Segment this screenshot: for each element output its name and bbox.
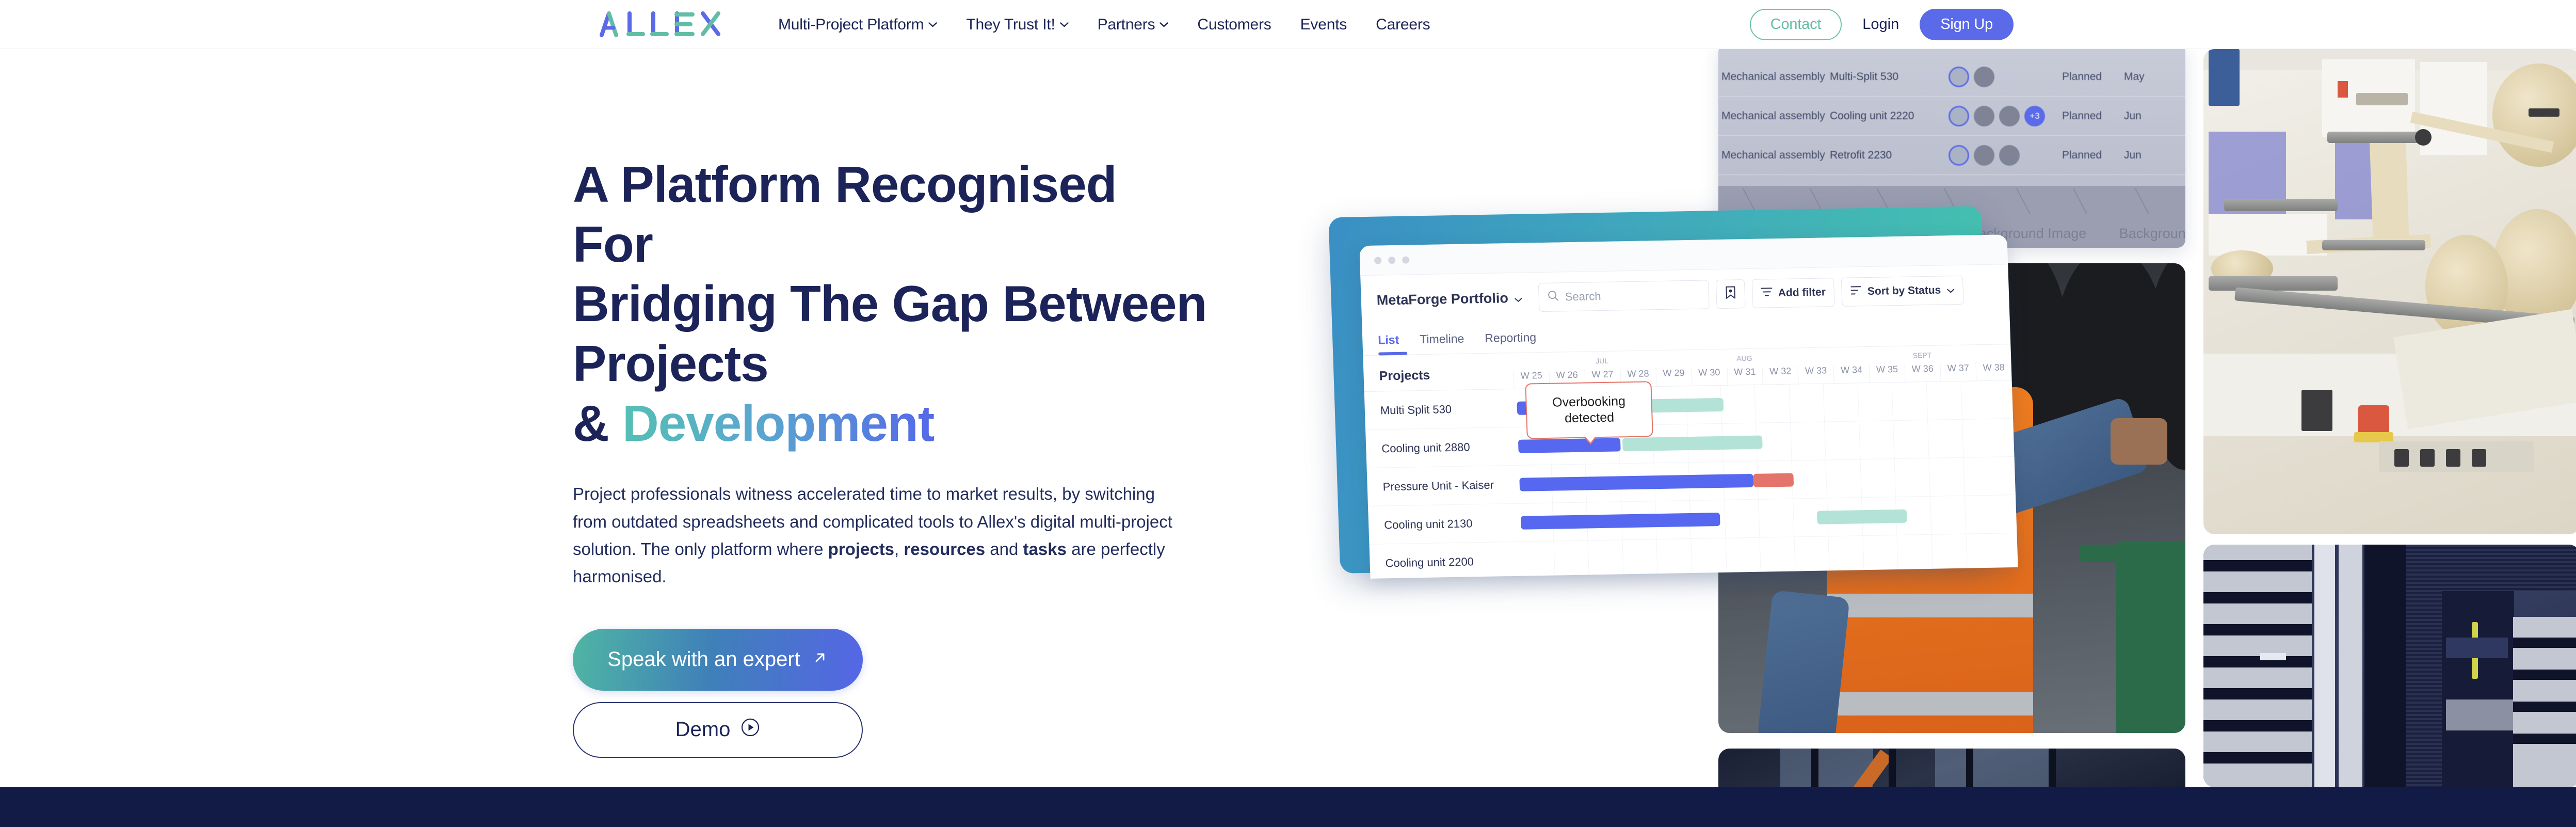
avatar — [1949, 67, 1969, 87]
week-col: W 30 — [1691, 367, 1727, 386]
gantt-bar-buffer[interactable] — [1622, 436, 1762, 452]
week-label: W 34 — [1841, 364, 1863, 375]
project-name: Cooling unit 2880 — [1366, 439, 1516, 455]
avatar — [1999, 106, 2020, 126]
app-mockup: MetaForge Portfolio Search — [1328, 206, 1993, 579]
week-label: W 36 — [1912, 363, 1934, 374]
mockup-window: MetaForge Portfolio Search — [1359, 234, 2018, 579]
cell-category: Mechanical assembly — [1721, 71, 1830, 83]
hero-content: A Platform Recognised For Bridging The G… — [573, 155, 1208, 758]
cta-secondary-label: Demo — [675, 718, 731, 741]
nav-item-events[interactable]: Events — [1286, 0, 1362, 49]
chevron-down-icon — [1160, 22, 1168, 27]
sort-icon — [1850, 285, 1862, 298]
headline-line-3: Projects — [573, 335, 768, 392]
cell-date: Jun — [2124, 149, 2176, 162]
week-label: W 27 — [1591, 369, 1614, 380]
nav-item-partners[interactable]: Partners — [1083, 0, 1183, 49]
nav-item-they-trust-it[interactable]: They Trust It! — [952, 0, 1083, 49]
search-input[interactable]: Search — [1538, 280, 1710, 312]
demo-button[interactable]: Demo — [573, 702, 863, 758]
week-label: W 26 — [1556, 370, 1578, 380]
portfolio-name: MetaForge Portfolio — [1376, 290, 1508, 308]
gantt-bar-buffer[interactable] — [1817, 510, 1907, 524]
contact-button[interactable]: Contact — [1750, 9, 1842, 40]
gantt-bar-planned[interactable] — [1519, 474, 1753, 491]
week-col: W 38 — [1975, 362, 2011, 380]
week-col: W 37 — [1940, 362, 1976, 381]
tab-timeline[interactable]: Timeline — [1420, 331, 1464, 346]
search-placeholder-text: Search — [1565, 290, 1601, 304]
week-label: W 35 — [1876, 364, 1898, 375]
hero-paragraph: Project professionals witness accelerate… — [573, 480, 1179, 591]
login-link[interactable]: Login — [1855, 16, 1906, 33]
week-col: W 33 — [1798, 365, 1834, 384]
week-col: SEPTW 36 — [1905, 363, 1941, 382]
avatar — [1949, 106, 1969, 126]
week-label: W 33 — [1805, 365, 1827, 376]
sep-2: and — [985, 539, 1023, 559]
overbooking-tooltip: Overbooking detected — [1525, 381, 1653, 439]
headline-ampersand: & — [573, 395, 609, 452]
cta-primary-label: Speak with an expert — [607, 648, 800, 671]
cta-group: Speak with an expert Demo — [573, 629, 1208, 758]
week-label: W 25 — [1520, 370, 1542, 381]
tab-list[interactable]: List — [1378, 332, 1399, 347]
bold-tasks: tasks — [1023, 539, 1067, 559]
nav-item-multi-project-platform[interactable]: Multi-Project Platform — [764, 0, 952, 49]
project-name: Multi Split 530 — [1364, 401, 1515, 417]
search-icon — [1547, 290, 1559, 304]
chevron-down-icon — [1060, 22, 1069, 27]
week-label: W 37 — [1947, 363, 1969, 374]
tooltip-line-1: Overbooking — [1552, 394, 1626, 409]
sort-label: Sort by Status — [1867, 284, 1941, 298]
status-badge: Planned — [2062, 71, 2124, 83]
projects-column-header: Projects — [1363, 367, 1514, 391]
headline-line-2: Bridging The Gap Between — [573, 275, 1206, 332]
week-label: W 28 — [1627, 368, 1649, 379]
week-col: W 29 — [1655, 368, 1692, 386]
portfolio-selector[interactable]: MetaForge Portfolio — [1376, 290, 1532, 308]
arrow-up-right-icon — [812, 648, 828, 671]
nav-label: Multi-Project Platform — [778, 16, 924, 34]
bold-projects: projects — [828, 539, 894, 559]
cell-avatars: +3 — [1949, 106, 2062, 126]
week-label: W 31 — [1734, 367, 1756, 377]
photo-industrial-paper-machine — [2203, 49, 2576, 534]
hero-page: Multi-Project Platform They Trust It! Pa… — [0, 0, 2576, 827]
window-dot-minimize[interactable] — [1388, 256, 1395, 263]
bookmark-button[interactable] — [1716, 279, 1746, 309]
week-col: W 34 — [1833, 364, 1870, 383]
week-label: W 38 — [1983, 362, 2005, 373]
month-label: JUL — [1584, 356, 1619, 365]
chevron-down-icon — [1514, 290, 1522, 306]
cell-category: Mechanical assembly — [1721, 149, 1830, 162]
chevron-down-icon — [1946, 284, 1955, 296]
background-image-placeholder: Background Image — [2111, 225, 2185, 243]
window-dot-maximize[interactable] — [1402, 256, 1409, 263]
cell-project: Multi-Split 530 — [1830, 71, 1949, 83]
cell-avatars — [1949, 67, 2062, 87]
bold-resources: resources — [904, 539, 985, 559]
bottom-navy-band — [0, 787, 2576, 827]
avatar — [1974, 67, 1994, 87]
month-label: SEPT — [1905, 351, 1940, 360]
nav-label: Careers — [1376, 16, 1430, 34]
table-row: Mechanical assembly Retrofit 2230 Planne… — [1718, 136, 2185, 175]
week-col: W 35 — [1869, 364, 1905, 383]
avatar — [1949, 145, 1969, 166]
table-row: Mechanical assembly Multi-Split 530 Plan… — [1718, 57, 2185, 97]
nav-actions: Contact Login Sign Up — [1750, 0, 2014, 49]
project-name: Pressure Unit - Kaiser — [1367, 478, 1517, 494]
photo-server-racks — [2203, 545, 2576, 787]
tooltip-line-2: detected — [1565, 410, 1615, 426]
cell-avatars — [1949, 145, 2062, 166]
week-col: AUGW 31 — [1727, 367, 1763, 385]
week-label: W 29 — [1663, 368, 1685, 378]
allex-logo[interactable] — [599, 10, 728, 37]
project-name: Cooling unit 2200 — [1370, 554, 1520, 570]
nav-label: They Trust It! — [966, 16, 1055, 34]
chevron-down-icon — [928, 22, 937, 27]
tab-reporting[interactable]: Reporting — [1485, 330, 1537, 345]
window-dot-close[interactable] — [1374, 257, 1381, 264]
nav-item-customers[interactable]: Customers — [1183, 0, 1285, 49]
cell-date: Jun — [2124, 110, 2176, 122]
week-label: W 30 — [1698, 367, 1720, 378]
headline-line-1: A Platform Recognised For — [573, 156, 1117, 273]
headline-gradient-word: Development — [622, 395, 934, 452]
page-title: A Platform Recognised For Bridging The G… — [573, 155, 1208, 453]
week-col: W 32 — [1762, 365, 1798, 384]
cell-category: Mechanical assembly — [1721, 110, 1830, 122]
nav-label: Events — [1300, 16, 1347, 34]
nav-item-careers[interactable]: Careers — [1361, 0, 1444, 49]
sep-1: , — [894, 539, 904, 559]
status-badge: Planned — [2062, 110, 2124, 122]
filter-icon — [1761, 287, 1773, 299]
sort-by-status-button[interactable]: Sort by Status — [1841, 276, 1963, 307]
nav-links: Multi-Project Platform They Trust It! Pa… — [764, 0, 1444, 49]
table-row: Mechanical assembly Cooling unit 2220 +3… — [1718, 97, 2185, 136]
cell-project: Cooling unit 2220 — [1830, 110, 1949, 122]
nav-label: Partners — [1098, 16, 1155, 34]
week-label: W 32 — [1769, 366, 1792, 377]
avatar — [1999, 145, 2020, 166]
bookmark-icon — [1725, 285, 1736, 302]
add-filter-button[interactable]: Add filter — [1752, 278, 1835, 308]
gantt-bar-overbooked[interactable] — [1753, 473, 1794, 487]
play-circle-icon — [740, 718, 760, 742]
status-badge: Planned — [2062, 149, 2124, 162]
month-label: AUG — [1727, 354, 1762, 363]
avatar-overflow-count: +3 — [2024, 106, 2045, 126]
project-name: Cooling unit 2130 — [1369, 516, 1519, 532]
avatar — [1974, 106, 1994, 126]
add-filter-label: Add filter — [1778, 286, 1826, 299]
top-navigation-bar: Multi-Project Platform They Trust It! Pa… — [0, 0, 2576, 49]
avatar — [1974, 145, 1994, 166]
cell-project: Retrofit 2230 — [1830, 149, 1949, 162]
nav-label: Customers — [1197, 16, 1271, 34]
speak-with-expert-button[interactable]: Speak with an expert — [573, 629, 863, 691]
gantt-bar-planned[interactable] — [1518, 438, 1621, 453]
signup-button[interactable]: Sign Up — [1920, 9, 2014, 40]
cell-date: May — [2124, 71, 2176, 83]
